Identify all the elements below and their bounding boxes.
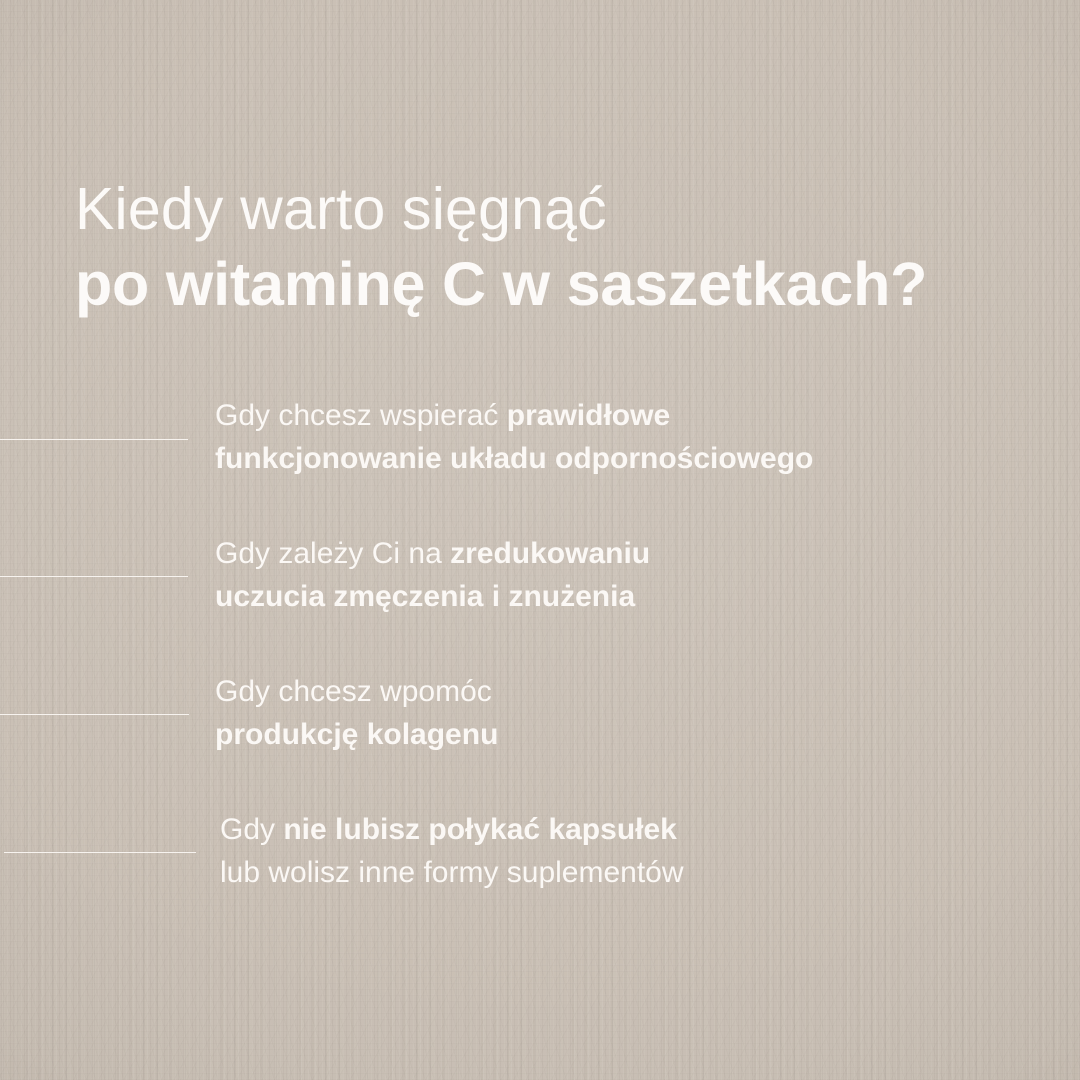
benefit-row-1-light: Gdy	[220, 813, 283, 846]
benefit-row-2: uczucia zmęczenia i znużenia	[215, 575, 1075, 618]
benefit-row-2: lub wolisz inne formy suplementów	[220, 851, 1080, 894]
benefit-rule-icon	[0, 714, 189, 715]
benefit-text: Gdy nie lubisz połykać kapsułek lub woli…	[220, 808, 1080, 894]
benefit-row-1: Gdy zależy Ci na zredukowaniu	[215, 532, 1075, 575]
benefit-row-1-bold: prawidłowe	[507, 399, 670, 432]
page-title: Kiedy warto sięgnąć po witaminę C w sasz…	[75, 171, 927, 321]
benefit-row-1: Gdy chcesz wpomóc	[215, 670, 1075, 713]
benefit-row-1: Gdy nie lubisz połykać kapsułek	[220, 808, 1080, 851]
benefit-row-2-bold: uczucia zmęczenia i znużenia	[215, 580, 635, 613]
list-item: Gdy nie lubisz połykać kapsułek lub woli…	[0, 808, 1080, 946]
benefit-row-2: funkcjonowanie układu odpornościowego	[215, 437, 1075, 480]
benefit-row-2-bold: funkcjonowanie układu odpornościowego	[215, 442, 813, 475]
benefit-row-2-light: lub wolisz inne formy suplementów	[220, 856, 684, 889]
benefit-rule-icon	[0, 439, 188, 440]
benefit-row-1-bold: zredukowaniu	[450, 537, 650, 570]
benefit-row-1-light: Gdy zależy Ci na	[215, 537, 450, 570]
benefit-rule-icon	[0, 576, 188, 577]
poster-content: Kiedy warto sięgnąć po witaminę C w sasz…	[0, 0, 1080, 1080]
page-title-line-2: po witaminę C w saszetkach?	[75, 247, 927, 321]
benefit-row-1: Gdy chcesz wspierać prawidłowe	[215, 394, 1075, 437]
benefit-row-2: produkcję kolagenu	[215, 713, 1075, 756]
benefit-text: Gdy chcesz wpomóc produkcję kolagenu	[215, 670, 1075, 756]
benefit-text: Gdy zależy Ci na zredukowaniu uczucia zm…	[215, 532, 1075, 618]
page-title-line-1: Kiedy warto sięgnąć	[75, 171, 927, 247]
benefit-row-1-light: Gdy chcesz wspierać	[215, 399, 507, 432]
benefit-row-1-light: Gdy chcesz wpomóc	[215, 675, 492, 708]
benefit-text: Gdy chcesz wspierać prawidłowe funkcjono…	[215, 394, 1075, 480]
poster-canvas: Kiedy warto sięgnąć po witaminę C w sasz…	[0, 0, 1080, 1080]
benefit-row-2-bold: produkcję kolagenu	[215, 718, 498, 751]
benefit-list: Gdy chcesz wspierać prawidłowe funkcjono…	[0, 394, 1080, 946]
benefit-rule-icon	[4, 852, 196, 853]
list-item: Gdy chcesz wpomóc produkcję kolagenu	[0, 670, 1080, 808]
list-item: Gdy zależy Ci na zredukowaniu uczucia zm…	[0, 532, 1080, 670]
list-item: Gdy chcesz wspierać prawidłowe funkcjono…	[0, 394, 1080, 532]
benefit-row-1-bold: nie lubisz połykać kapsułek	[283, 813, 677, 846]
